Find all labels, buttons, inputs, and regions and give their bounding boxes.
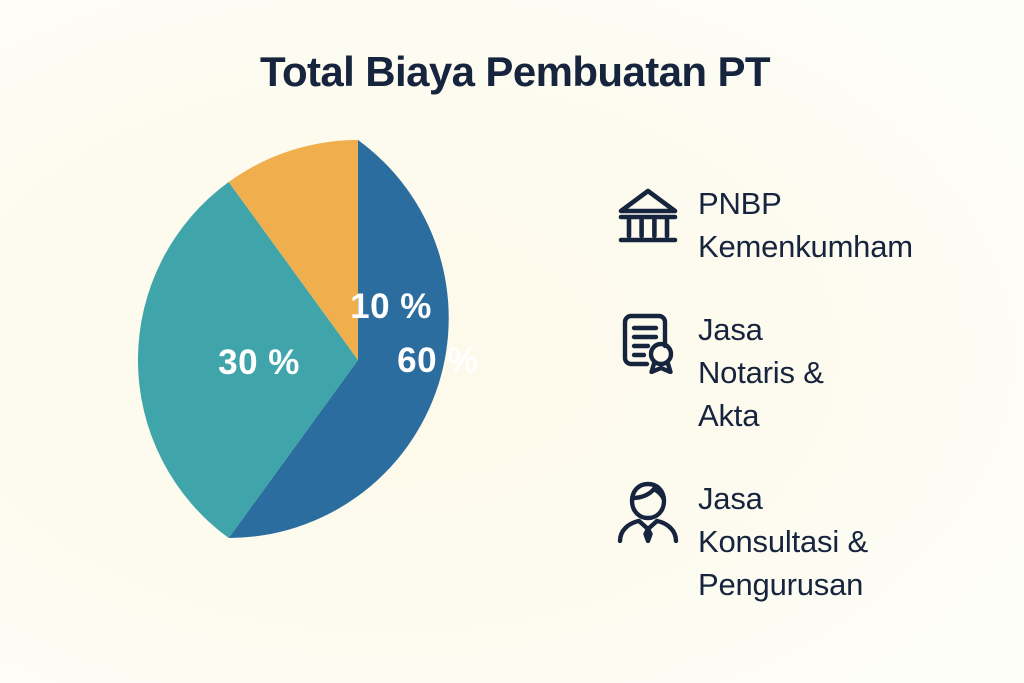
pie-label-blue: 60 % <box>397 341 479 380</box>
legend-label-line: Pengurusan <box>698 563 1012 606</box>
pie-chart-svg: 10 % 30 % 60 % <box>138 140 578 580</box>
pie-label-amber: 10 % <box>350 287 432 326</box>
bank-icon <box>612 180 684 252</box>
pie-chart: 10 % 30 % 60 % <box>138 140 578 580</box>
certificate-seal-icon <box>612 306 684 378</box>
legend-item-konsultasi[interactable]: Jasa Konsultasi & Pengurusan <box>612 475 1012 606</box>
legend-label-line: Kemenkumham <box>698 225 1012 268</box>
legend-label-pnbp: PNBP Kemenkumham <box>684 180 1012 268</box>
legend-label-line: Akta <box>698 394 1012 437</box>
legend-label-line: Jasa <box>698 308 1012 351</box>
legend-label-line: Konsultasi & <box>698 520 1012 563</box>
legend: PNBP Kemenkumham Jasa Notaris & <box>612 180 1012 644</box>
legend-label-line: Jasa <box>698 477 1012 520</box>
infographic-canvas: Total Biaya Pembuatan PT 10 % 30 % 60 % <box>0 0 1024 683</box>
page-title: Total Biaya Pembuatan PT <box>0 46 1024 98</box>
legend-item-pnbp[interactable]: PNBP Kemenkumham <box>612 180 1012 268</box>
businessperson-icon <box>612 475 684 547</box>
legend-label-line: Notaris & <box>698 351 1012 394</box>
legend-label-notaris: Jasa Notaris & Akta <box>684 306 1012 437</box>
legend-label-line: PNBP <box>698 182 1012 225</box>
legend-label-konsultasi: Jasa Konsultasi & Pengurusan <box>684 475 1012 606</box>
pie-label-teal: 30 % <box>218 343 300 382</box>
legend-item-notaris[interactable]: Jasa Notaris & Akta <box>612 306 1012 437</box>
